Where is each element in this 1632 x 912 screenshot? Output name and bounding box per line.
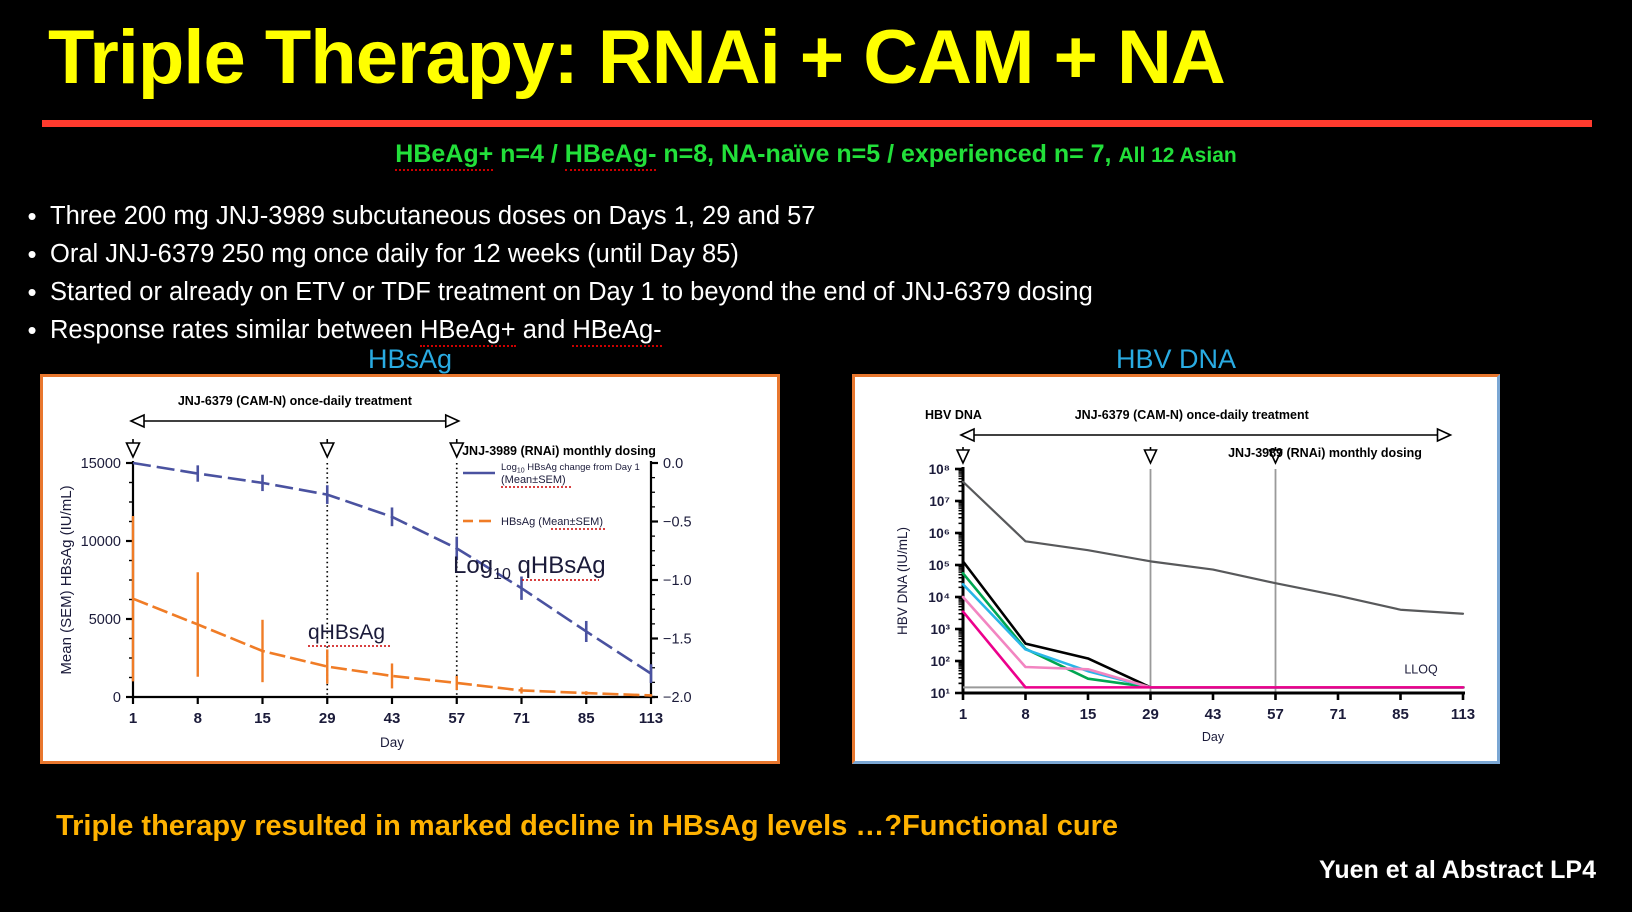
y-tick-label-left: 0: [113, 690, 121, 706]
x-tick-label: 15: [1080, 706, 1097, 723]
y-tick-label: 10⁶: [929, 526, 950, 541]
series-line-patient-magenta: [963, 612, 1463, 688]
treatment-bar-label: JNJ-6379 (CAM-N) once-daily treatment: [178, 394, 413, 408]
bullet-text: Response rates similar between HBeAg+ an…: [50, 314, 662, 346]
series-line-patient-lightpink: [963, 597, 1463, 687]
legend-label-rest: HBsAg change from Day 1: [525, 462, 640, 473]
subtitle-part-2: n=4 /: [493, 140, 565, 168]
x-tick-label: 57: [1267, 706, 1284, 723]
list-item: • Response rates similar between HBeAg+ …: [14, 314, 1314, 346]
bullet4-term-hbeag-positive: HBeAg+: [420, 316, 516, 347]
subtitle-term-hbeag-negative: HBeAg-: [565, 140, 657, 171]
y-tick-label: 10⁴: [928, 590, 950, 605]
dosing-label: JNJ-3989 (RNAi) monthly dosing: [1228, 446, 1422, 460]
x-tick-label: 29: [319, 710, 336, 727]
bullet-text: Started or already on ETV or TDF treatme…: [50, 276, 1093, 308]
x-tick-label: 71: [513, 710, 530, 727]
reference-citation: Yuen et al Abstract LP4: [1319, 856, 1596, 885]
list-item: • Oral JNJ-6379 250 mg once daily for 12…: [14, 238, 1314, 270]
bullet-marker-icon: •: [14, 238, 50, 270]
x-tick-label: 113: [639, 710, 663, 727]
hbsag-chart: JNJ-6379 (CAM-N) once-daily treatmentJNJ…: [43, 377, 777, 761]
dose-arrow-icon: [127, 443, 140, 457]
x-tick-label: 57: [448, 710, 465, 727]
y-tick-label-left: 15000: [81, 456, 121, 472]
x-tick-label: 8: [194, 710, 202, 727]
treatment-bar-arrow-right-icon: [1438, 429, 1451, 441]
chart-heading-hbvdna: HBV DNA: [925, 408, 982, 422]
chart-title-hbvdna: HBV DNA: [852, 344, 1500, 375]
x-tick-label: 113: [1451, 706, 1475, 723]
series-line-patient-grey: [963, 482, 1463, 614]
treatment-bar-arrow-left-icon: [961, 429, 974, 441]
bullet-text: Three 200 mg JNJ-3989 subcutaneous doses…: [50, 200, 816, 232]
chart-title-hbsag: HBsAg: [40, 344, 780, 375]
y-tick-label: 10⁵: [929, 558, 950, 573]
y-tick-label-right: 0.0: [663, 456, 683, 472]
y-tick-label-right: −2.0: [663, 690, 692, 706]
subtitle: HBeAg+ n=4 / HBeAg- n=8, NA-naïve n=5 / …: [0, 140, 1632, 169]
annotation-subscript: 10: [493, 566, 511, 583]
y-tick-label: 10²: [930, 654, 950, 669]
x-tick-label: 71: [1330, 706, 1347, 723]
x-tick-label: 85: [1392, 706, 1409, 723]
list-item: • Started or already on ETV or TDF treat…: [14, 276, 1314, 308]
x-tick-label: 43: [384, 710, 401, 727]
legend-label-log10: Log10 HBsAg change from Day 1: [501, 462, 640, 475]
bullet4-mid: and: [516, 316, 573, 344]
hbvdna-chart: HBV DNAJNJ-6379 (CAM-N) once-daily treat…: [855, 377, 1497, 761]
x-tick-label: 29: [1142, 706, 1159, 723]
title-divider: [42, 120, 1592, 127]
y-tick-label: 10¹: [930, 686, 950, 701]
dosing-label: JNJ-3989 (RNAi) monthly dosing: [462, 444, 656, 458]
bullet-marker-icon: •: [14, 200, 50, 232]
dose-arrow-icon: [1145, 450, 1157, 463]
treatment-bar-arrow-left-icon: [131, 415, 144, 427]
x-tick-label: 1: [129, 710, 137, 727]
subtitle-part-4: n=8, NA-naïve n=5 / experienced n= 7,: [656, 140, 1118, 168]
y-tick-label: 10³: [930, 622, 950, 637]
x-axis-label: Day: [1202, 730, 1225, 744]
subtitle-part-5: All 12 Asian: [1118, 144, 1236, 167]
bullet-text: Oral JNJ-6379 250 mg once daily for 12 w…: [50, 238, 739, 270]
dose-arrow-icon: [321, 443, 334, 457]
x-tick-label: 1: [959, 706, 967, 723]
list-item: • Three 200 mg JNJ-3989 subcutaneous dos…: [14, 200, 1314, 232]
annotation-qhbsag: qHBsAg: [308, 621, 385, 644]
bullet4-term-hbeag-negative: HBeAg-: [572, 316, 661, 347]
treatment-bar-arrow-right-icon: [446, 415, 459, 427]
treatment-bar-label: JNJ-6379 (CAM-N) once-daily treatment: [1075, 408, 1310, 422]
x-tick-label: 43: [1205, 706, 1222, 723]
y-axis-label-left: Mean (SEM) HBsAg (IU/mL): [58, 485, 75, 674]
y-tick-label: 10⁷: [929, 494, 950, 509]
y-tick-label-right: −1.0: [663, 573, 692, 589]
bullet-marker-icon: •: [14, 314, 50, 346]
bullet4-pre: Response rates similar between: [50, 316, 420, 344]
hbsag-plot: JNJ-6379 (CAM-N) once-daily treatmentJNJ…: [58, 394, 692, 750]
lloq-label: LLOQ: [1404, 662, 1438, 676]
chart-legend: Log10 HBsAg change from Day 1(Mean±SEM)H…: [463, 462, 640, 529]
x-axis-label: Day: [380, 735, 404, 750]
legend-label-log10-line2: (Mean±SEM): [501, 474, 566, 486]
bullet-marker-icon: •: [14, 276, 50, 308]
y-tick-label-right: −1.5: [663, 632, 692, 648]
legend-label-hbsag: HBsAg (Mean±SEM): [501, 516, 603, 528]
x-tick-label: 15: [254, 710, 271, 727]
hbvdna-plot: HBV DNAJNJ-6379 (CAM-N) once-daily treat…: [895, 408, 1475, 744]
chart-panel-hbsag: JNJ-6379 (CAM-N) once-daily treatmentJNJ…: [40, 374, 780, 764]
chart-panel-hbvdna: HBV DNAJNJ-6379 (CAM-N) once-daily treat…: [852, 374, 1500, 764]
y-tick-label-left: 10000: [81, 534, 121, 550]
page-title: Triple Therapy: RNAi + CAM + NA: [48, 18, 1588, 98]
y-axis-label: HBV DNA (IU/mL): [895, 527, 910, 635]
annotation-log10-qhbsag: Log10 qHBsAg: [453, 552, 606, 583]
y-tick-label-right: −0.5: [663, 515, 692, 531]
subtitle-term-hbeag-positive: HBeAg+: [395, 140, 493, 171]
conclusion-text: Triple therapy resulted in marked declin…: [56, 810, 1256, 843]
dose-arrow-icon: [957, 450, 969, 463]
x-tick-label: 8: [1021, 706, 1029, 723]
series-line-patient-green: [963, 573, 1463, 687]
annotation-rest: qHBsAg: [511, 552, 606, 579]
bullet-list: • Three 200 mg JNJ-3989 subcutaneous dos…: [14, 200, 1314, 352]
y-tick-label: 10⁸: [929, 462, 950, 477]
series-line-patient-cyan: [963, 584, 1463, 687]
y-tick-label-left: 5000: [89, 612, 121, 628]
x-tick-label: 85: [578, 710, 595, 727]
